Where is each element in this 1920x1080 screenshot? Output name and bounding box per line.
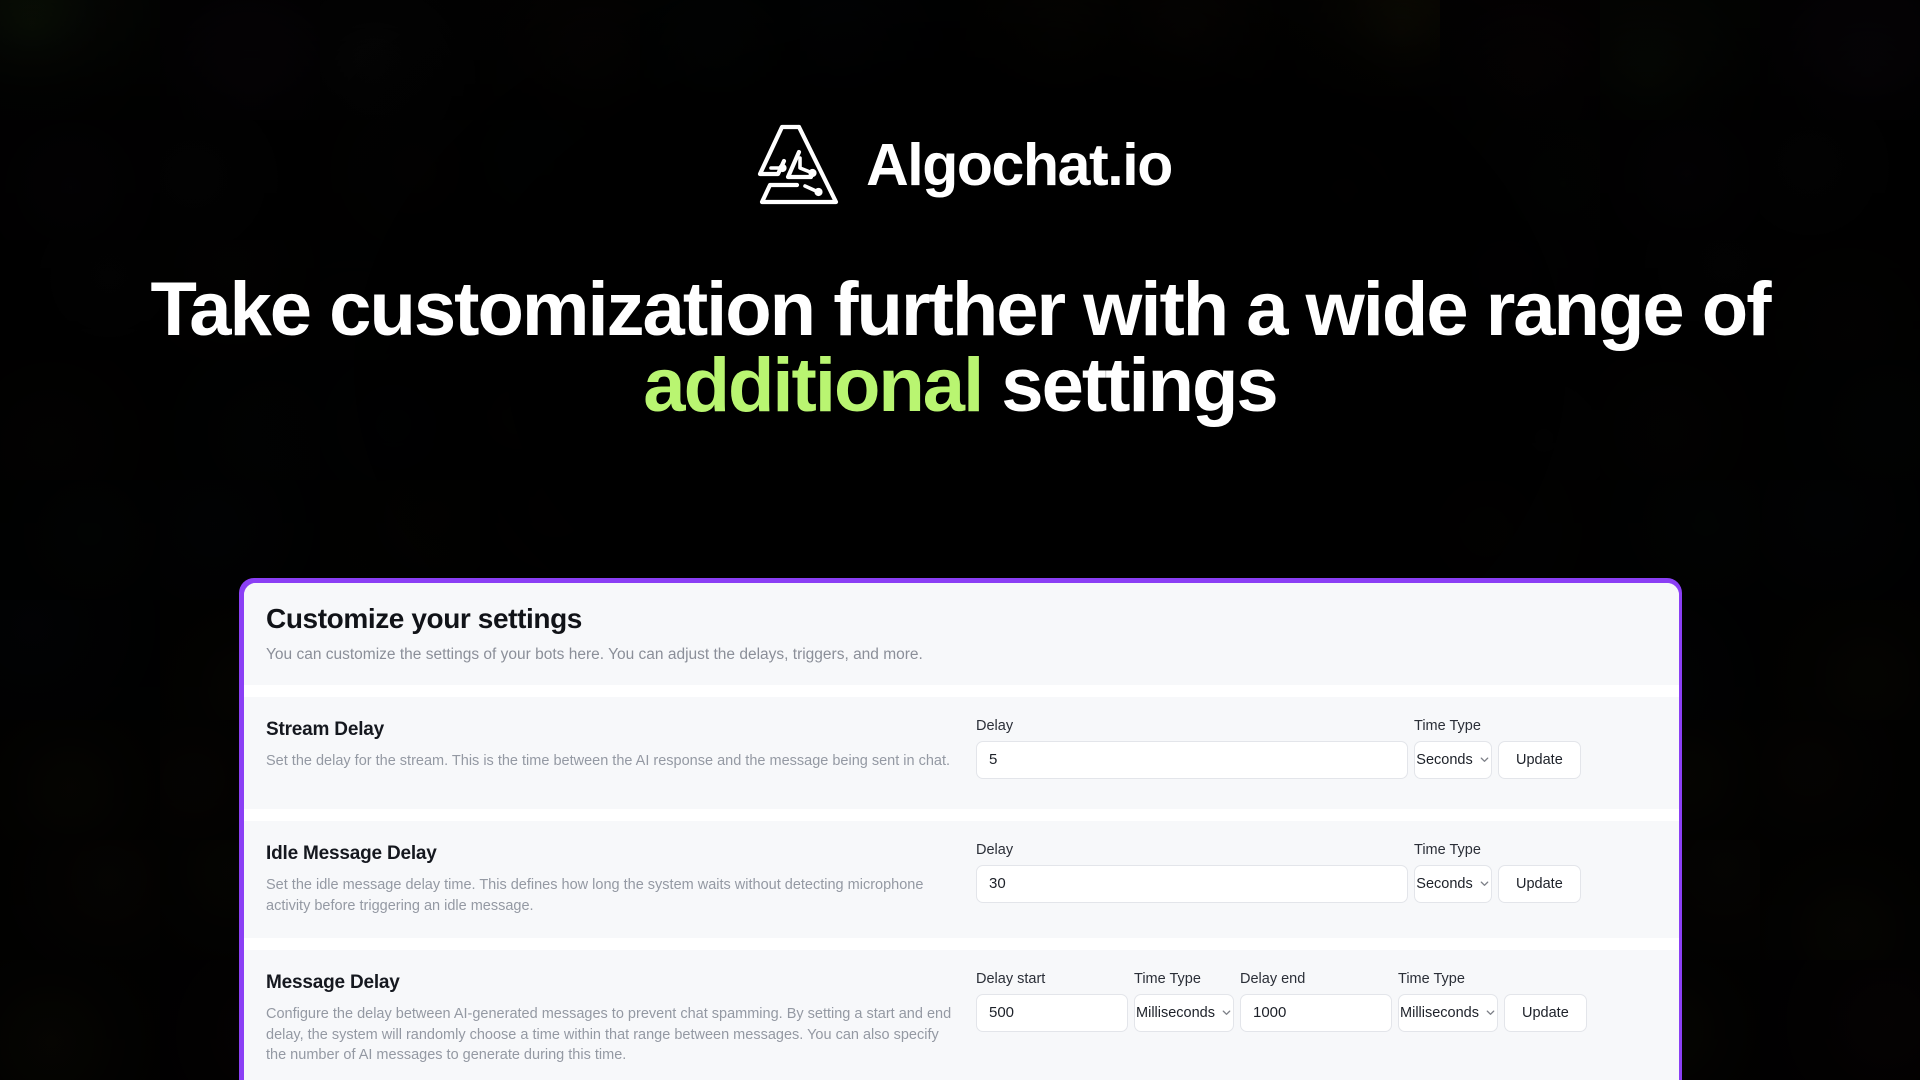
page-subtitle: You can customize the settings of your b… (266, 645, 1657, 665)
setting-row-title: Message Delay (266, 972, 952, 995)
field-group: Time TypeMilliseconds (1398, 972, 1498, 1032)
field-group: Time TypeSeconds (1414, 843, 1492, 903)
setting-row-description: Set the delay for the stream. This is th… (266, 751, 952, 772)
field-label: Time Type (1134, 972, 1234, 987)
field-label: Time Type (1398, 972, 1498, 987)
update-button-group: Update (1504, 972, 1587, 1032)
setting-row-description: Configure the delay between AI-generated… (266, 1004, 952, 1066)
setting-row-info: Idle Message DelaySet the idle message d… (266, 843, 976, 916)
field-group: Time TypeMilliseconds (1134, 972, 1234, 1032)
time-type-select[interactable]: Milliseconds (1134, 994, 1234, 1032)
field-label: Delay (976, 843, 1408, 858)
field-label: Time Type (1414, 843, 1492, 858)
setting-row-description: Set the idle message delay time. This de… (266, 875, 952, 916)
field-label: Time Type (1414, 719, 1492, 734)
hero-headline: Take customization further with a wide r… (150, 272, 1770, 424)
field-group: Time TypeSeconds (1414, 719, 1492, 779)
delay-input[interactable] (1240, 994, 1392, 1032)
time-type-select[interactable]: Seconds (1414, 865, 1492, 903)
settings-card-inner: Customize your settings You can customiz… (244, 583, 1679, 1080)
section-divider (244, 938, 1679, 950)
field-label: Delay start (976, 972, 1128, 987)
page-title: Customize your settings (266, 603, 1657, 635)
chevron-down-icon (1479, 878, 1490, 889)
delay-input[interactable] (976, 865, 1408, 903)
delay-input[interactable] (976, 741, 1408, 779)
brand-name: Algochat.io (866, 136, 1172, 195)
setting-row-controls: DelayTime TypeSeconds Update (976, 719, 1657, 779)
update-button[interactable]: Update (1504, 994, 1587, 1032)
update-spacer-label (1498, 843, 1581, 858)
update-button-group: Update (1498, 843, 1581, 903)
field-group: Delay end (1240, 972, 1392, 1032)
time-type-select[interactable]: Seconds (1414, 741, 1492, 779)
field-group: Delay (976, 719, 1408, 779)
setting-row-controls: DelayTime TypeSeconds Update (976, 843, 1657, 903)
headline-accent-word: additional (643, 343, 982, 428)
algochat-a-monogram-icon (748, 122, 840, 208)
setting-row: Idle Message DelaySet the idle message d… (244, 821, 1679, 938)
field-label: Delay end (1240, 972, 1392, 987)
setting-row-controls: Delay startTime TypeMillisecondsDelay en… (976, 972, 1657, 1032)
landing-page: Algochat.io Take customization further w… (0, 0, 1920, 1080)
setting-row-info: Message DelayConfigure the delay between… (266, 972, 976, 1066)
time-type-value: Seconds (1416, 752, 1472, 768)
time-type-value: Milliseconds (1400, 1005, 1479, 1021)
delay-input[interactable] (976, 994, 1128, 1032)
chevron-down-icon (1479, 754, 1490, 765)
update-spacer-label (1498, 719, 1581, 734)
update-button-group: Update (1498, 719, 1581, 779)
update-spacer-label (1504, 972, 1587, 987)
time-type-select[interactable]: Milliseconds (1398, 994, 1498, 1032)
settings-card: Customize your settings You can customiz… (239, 578, 1682, 1080)
field-label: Delay (976, 719, 1408, 734)
section-divider (244, 809, 1679, 821)
section-divider (244, 685, 1679, 697)
settings-card-header: Customize your settings You can customiz… (244, 583, 1679, 685)
update-button[interactable]: Update (1498, 741, 1581, 779)
chevron-down-icon (1221, 1007, 1232, 1018)
setting-row-title: Stream Delay (266, 719, 952, 742)
time-type-value: Milliseconds (1136, 1005, 1215, 1021)
setting-row-info: Stream DelaySet the delay for the stream… (266, 719, 976, 771)
setting-row-title: Idle Message Delay (266, 843, 952, 866)
chevron-down-icon (1485, 1007, 1496, 1018)
field-group: Delay (976, 843, 1408, 903)
headline-text-part1: Take customization further with a wide r… (150, 267, 1769, 352)
settings-row-list: Stream DelaySet the delay for the stream… (244, 697, 1679, 1080)
headline-text-part2: settings (982, 343, 1277, 428)
brand-logo: Algochat.io (0, 122, 1920, 208)
page-content: Algochat.io Take customization further w… (0, 0, 1920, 1080)
field-group: Delay start (976, 972, 1128, 1032)
setting-row: Stream DelaySet the delay for the stream… (244, 697, 1679, 809)
time-type-value: Seconds (1416, 876, 1472, 892)
update-button[interactable]: Update (1498, 865, 1581, 903)
setting-row: Message DelayConfigure the delay between… (244, 950, 1679, 1080)
